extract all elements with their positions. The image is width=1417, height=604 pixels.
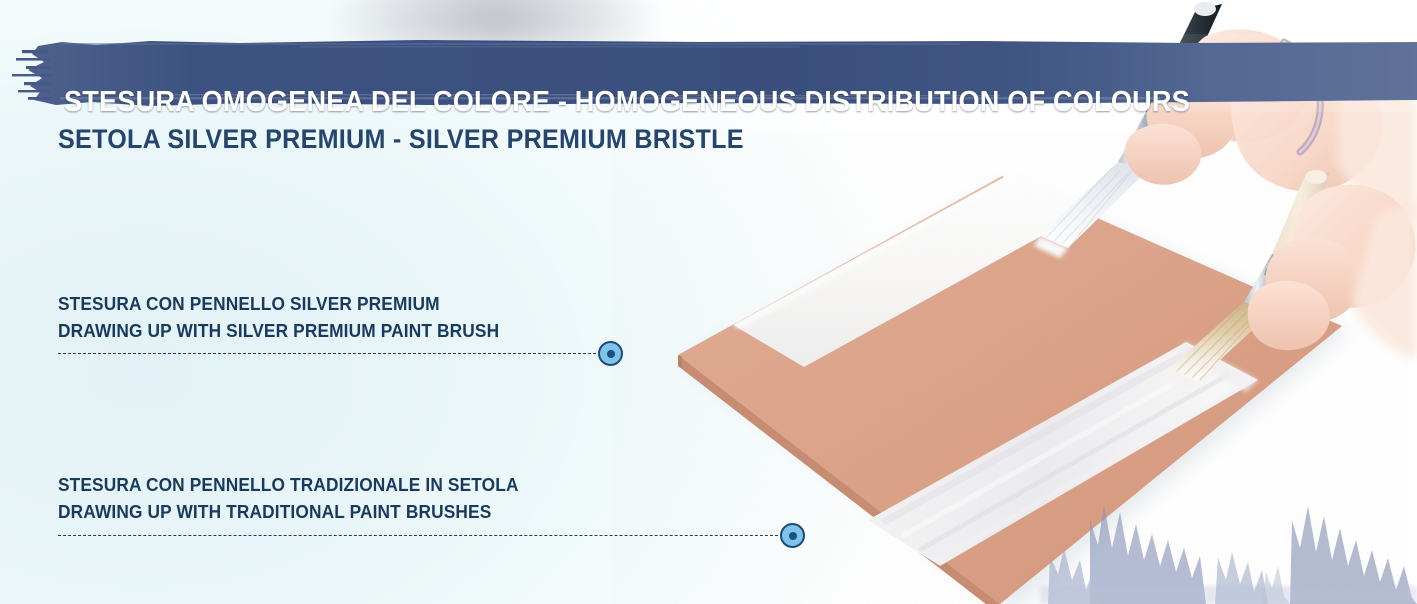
traditional-bristle-paint-brush [1162,170,1330,392]
banner-title: STESURA OMOGENEA DEL COLORE - HOMOGENEOU… [64,86,1190,119]
callout-leader-line-1 [58,353,606,355]
callout-line-it: STESURA CON PENNELLO TRADIZIONALE IN SET… [58,471,519,498]
terracotta-test-board [678,173,1342,604]
callout-line-en: DRAWING UP WITH TRADITIONAL PAINT BRUSHE… [58,498,519,525]
callout-line-it: STESURA CON PENNELLO SILVER PREMIUM [58,290,499,317]
header-banner: STESURA OMOGENEA DEL COLORE - HOMOGENEOU… [0,34,1417,112]
callout-silver-premium: STESURA CON PENNELLO SILVER PREMIUM DRAW… [58,290,530,344]
callout-marker-traditional[interactable] [780,523,805,548]
white-paint-stripe-silver-premium [733,173,1092,367]
section-subtitle: SETOLA SILVER PREMIUM - SILVER PREMIUM B… [58,124,744,155]
decorative-brushstroke-texture [1040,505,1417,604]
white-paint-stripe-traditional [868,342,1258,566]
fingers-lower [1248,185,1417,360]
callout-marker-silver-premium[interactable] [598,341,623,366]
callout-line-en: DRAWING UP WITH SILVER PREMIUM PAINT BRU… [58,317,499,344]
callout-leader-line-2 [58,535,788,537]
poster-canvas: STESURA OMOGENEA DEL COLORE - HOMOGENEOU… [0,0,1417,604]
hand-holding-traditional-brush [1162,170,1417,392]
callout-traditional: STESURA CON PENNELLO TRADIZIONALE IN SET… [58,471,551,525]
